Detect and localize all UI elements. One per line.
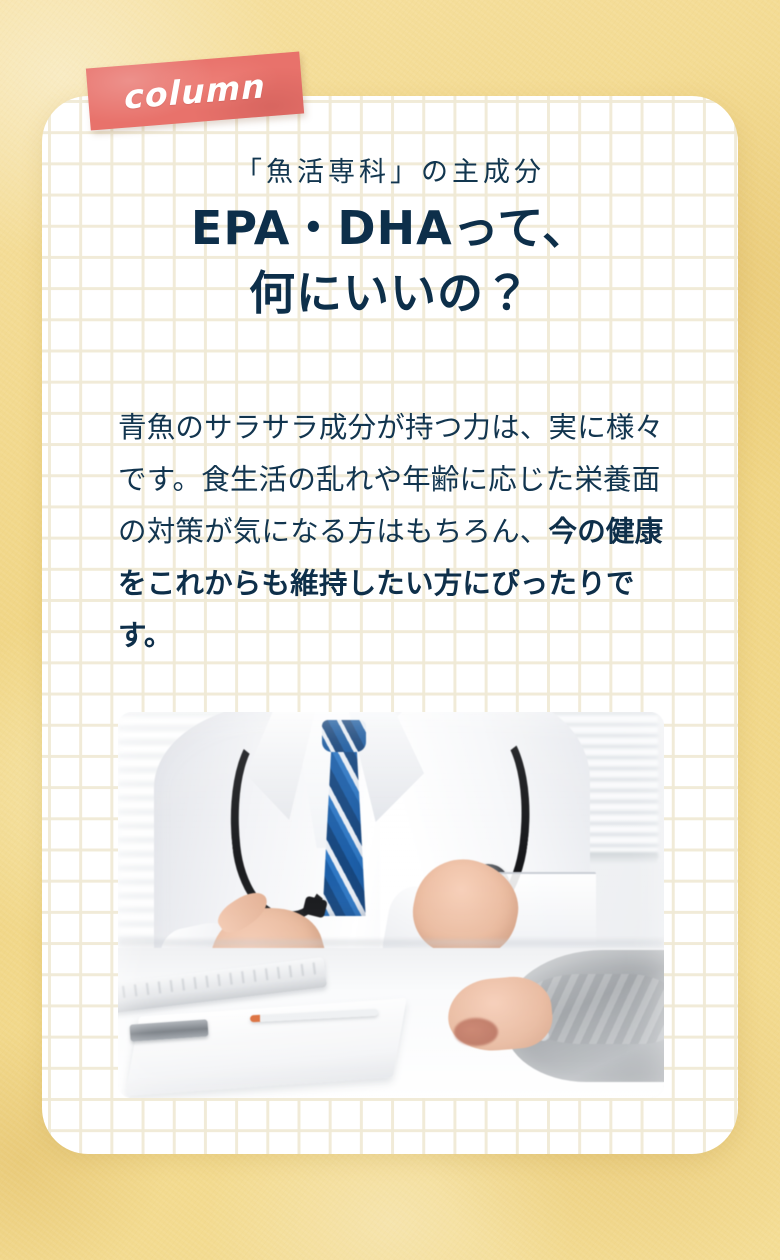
heading-title-line-1: EPA・DHAって、 — [187, 197, 593, 260]
heading-title-line-2: 何にいいの？ — [245, 262, 535, 325]
column-card: 「魚活専科」の主成分 EPA・DHAって、 何にいいの？ 青魚のサラサラ成分が持… — [42, 96, 738, 1154]
heading-block: 「魚活専科」の主成分 EPA・DHAって、 何にいいの？ — [42, 150, 738, 326]
column-badge-label: column — [124, 66, 266, 116]
body-copy: 青魚のサラサラ成分が持つ力は、実に様々です。食生活の乱れや年齢に応じた栄養面の対… — [118, 402, 678, 662]
heading-title-line-2-text: 何にいいの？ — [249, 266, 531, 320]
doctor-consultation-photo — [118, 712, 664, 1098]
heading-title-line-1-text: EPA・DHAって、 — [191, 201, 589, 255]
photo-soften-overlay — [118, 712, 664, 1098]
heading-eyebrow: 「魚活専科」の主成分 — [42, 150, 738, 189]
